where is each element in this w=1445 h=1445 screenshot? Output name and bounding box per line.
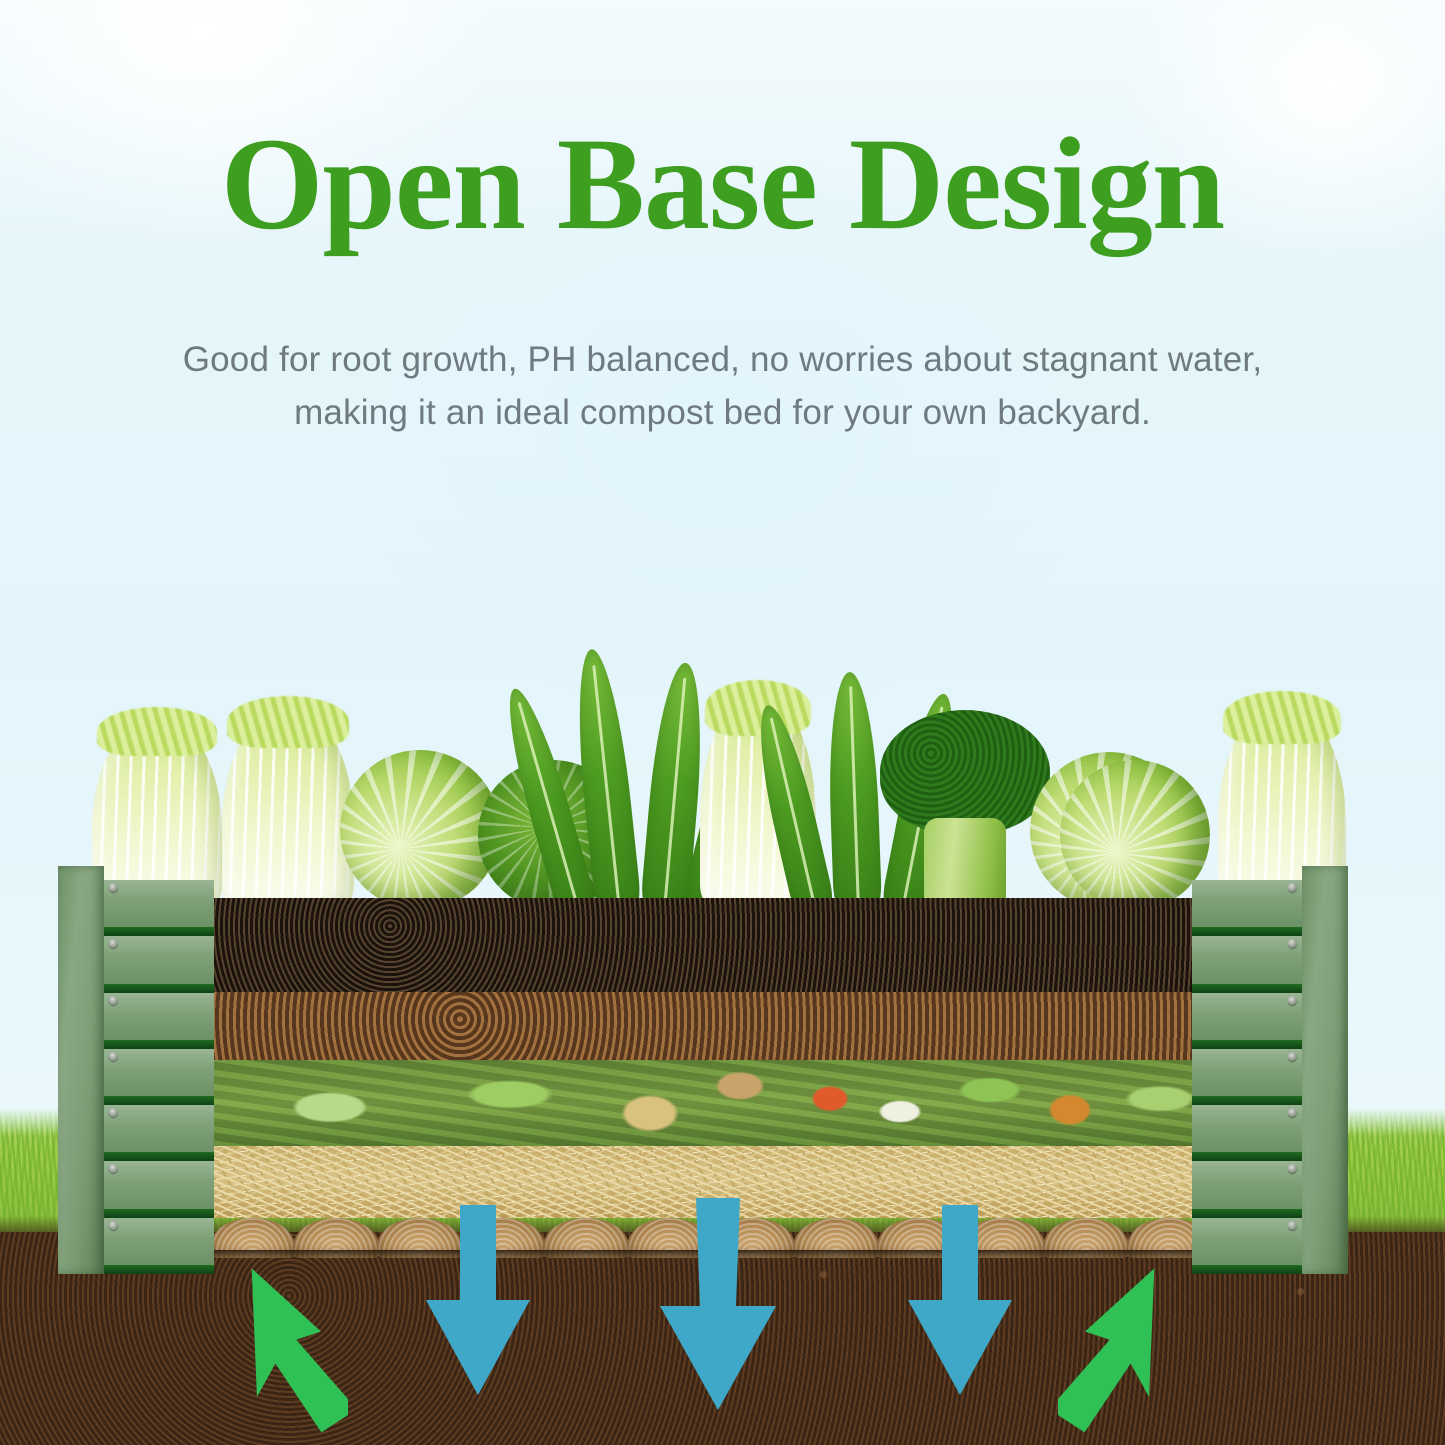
metal-slat [1192,1218,1304,1274]
heading-block: Open Base Design Good for root growth, P… [0,0,1445,439]
slat-stack [1192,880,1304,1274]
subtitle-line-1: Good for root growth, PH balanced, no wo… [0,334,1445,387]
airflow-arrow-up-right [1058,1248,1178,1438]
right-metal-panel [1193,866,1348,1274]
screw-icon [109,883,118,892]
drainage-arrow-down-1 [418,1205,538,1410]
corner-post [1302,866,1348,1274]
screw-icon [109,996,118,1005]
metal-slat [1192,936,1304,992]
screw-icon [1288,1052,1297,1061]
bed-layer-scraps [210,1060,1210,1146]
slat-lip [102,984,214,993]
green-cabbage-1 [340,750,500,910]
screw-icon [1288,883,1297,892]
metal-slat [102,1105,214,1161]
slat-face [102,1218,214,1265]
slat-face [102,1049,214,1096]
subtitle-line-2: making it an ideal compost bed for your … [0,387,1445,440]
broccoli-stalk [924,818,1006,910]
bed-layer-topsoil [210,898,1210,992]
slat-face [102,936,214,983]
metal-slat [1192,1161,1304,1217]
metal-slat [102,1161,214,1217]
slat-lip [1192,1040,1304,1049]
slat-face [102,1161,214,1208]
slat-lip [102,1096,214,1105]
bed-layer-compost [210,992,1210,1060]
metal-slat [1192,993,1304,1049]
slat-lip [1192,927,1304,936]
slat-lip [102,1209,214,1218]
metal-slat [102,936,214,992]
slat-stack [102,880,214,1274]
slat-face [102,1105,214,1152]
slat-lip [1192,1152,1304,1161]
airflow-arrow-up-left [228,1248,348,1438]
metal-slat [1192,1105,1304,1161]
metal-slat [1192,1049,1304,1105]
slat-lip [1192,1209,1304,1218]
metal-slat [102,993,214,1049]
screw-icon [1288,996,1297,1005]
page-subtitle: Good for root growth, PH balanced, no wo… [0,334,1445,439]
slat-face [102,993,214,1040]
screw-icon [109,1052,118,1061]
infographic-canvas: Open Base Design Good for root growth, P… [0,0,1445,1445]
slat-lip [1192,984,1304,993]
slat-lip [1192,1096,1304,1105]
slat-lip [102,1040,214,1049]
metal-slat [102,880,214,936]
corner-post [58,866,104,1274]
slat-lip [1192,1265,1304,1274]
page-title: Open Base Design [0,0,1445,250]
metal-slat [102,1049,214,1105]
slat-lip [102,1152,214,1161]
vegetable-row [0,600,1445,910]
screw-icon [109,1221,118,1230]
drainage-arrow-down-2 [900,1205,1020,1410]
napa-cabbage-2 [222,710,354,910]
slat-lip [102,1265,214,1274]
green-cabbage-4 [1060,760,1210,910]
slat-face [102,880,214,927]
broccoli-crown [880,710,1050,834]
screw-icon [1288,1221,1297,1230]
metal-slat [102,1218,214,1274]
metal-slat [1192,880,1304,936]
slat-lip [102,927,214,936]
broccoli [880,710,1050,910]
left-metal-panel [58,866,213,1274]
drainage-arrow-down-center [648,1198,788,1428]
